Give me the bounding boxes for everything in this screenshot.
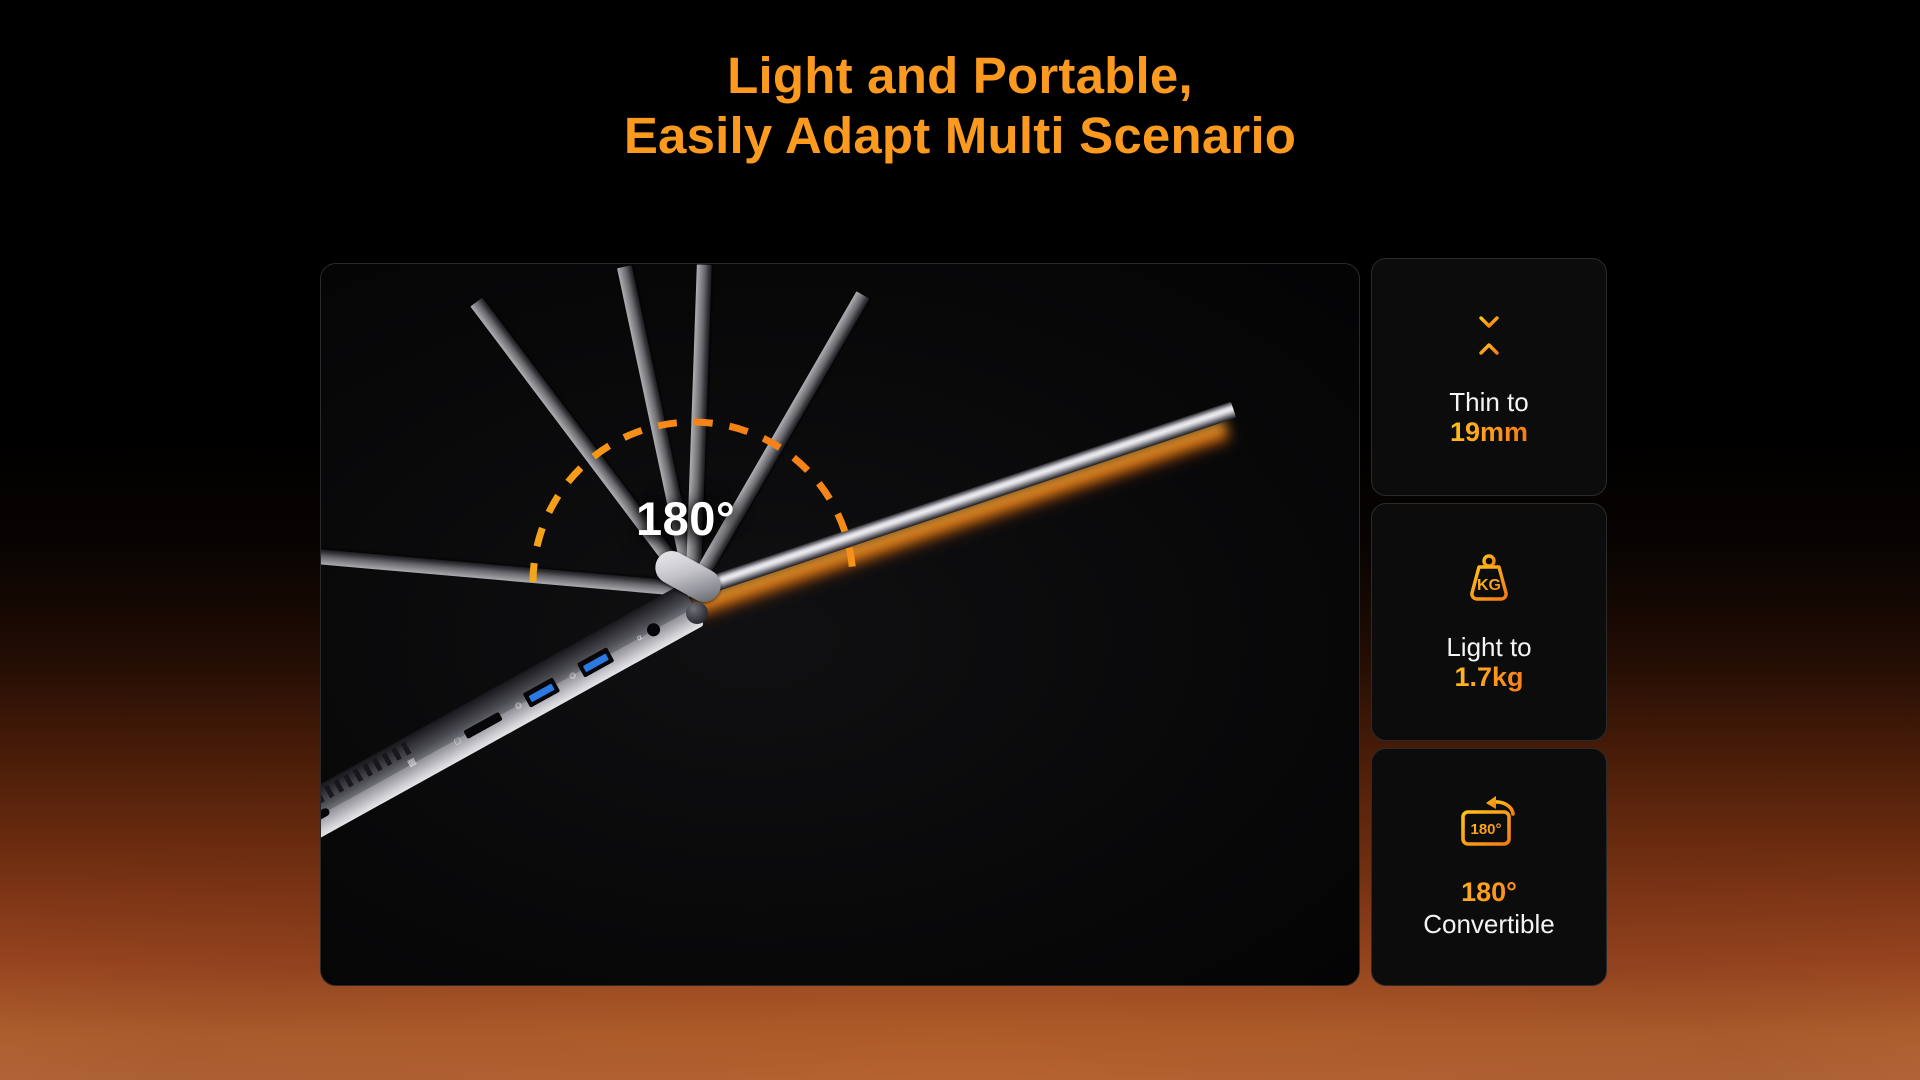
rotate-180-screen-icon: 180° bbox=[1450, 789, 1528, 861]
feature-card-thin[interactable]: Thin to 19mm bbox=[1371, 258, 1607, 496]
feature-card-convertible[interactable]: 180° 180° Convertible bbox=[1371, 748, 1607, 986]
headline-line-1: Light and Portable, bbox=[0, 46, 1920, 106]
thickness-arrows-icon bbox=[1454, 299, 1524, 371]
angle-callout-label: 180° bbox=[636, 491, 735, 546]
rotate-180-screen-icon-svg: 180° bbox=[1450, 790, 1528, 860]
feature-card-light[interactable]: KG Light to 1.7kg bbox=[1371, 503, 1607, 741]
ghost-beam-1 bbox=[320, 545, 694, 597]
rotate-arrow-head bbox=[1486, 796, 1496, 809]
promo-banner: Light and Portable, Easily Adapt Multi S… bbox=[0, 0, 1920, 1080]
weight-kg-icon-svg: KG bbox=[1454, 545, 1524, 615]
hinge-stud bbox=[686, 602, 708, 624]
feature-card-thin-value: 19mm bbox=[1449, 417, 1529, 449]
hero-image-panel: ⍺ ⏣ ⏣ ▢ ▦ 180° bbox=[320, 263, 1360, 986]
thickness-arrows-icon-svg bbox=[1454, 300, 1524, 370]
weight-kg-icon: KG bbox=[1454, 544, 1524, 616]
rotate-icon-180-text: 180° bbox=[1470, 821, 1501, 838]
feature-card-thin-text: Thin to 19mm bbox=[1449, 387, 1529, 450]
headline-line-2: Easily Adapt Multi Scenario bbox=[0, 106, 1920, 166]
feature-card-convertible-value: 180° bbox=[1423, 877, 1555, 909]
feature-card-thin-label: Thin to bbox=[1449, 387, 1529, 418]
ghost-lid-beams bbox=[321, 264, 1359, 985]
feature-card-light-value: 1.7kg bbox=[1446, 662, 1531, 694]
page-title: Light and Portable, Easily Adapt Multi S… bbox=[0, 46, 1920, 165]
feature-card-list: Thin to 19mm KG bbox=[1371, 258, 1607, 986]
feature-card-convertible-label: Convertible bbox=[1423, 909, 1555, 940]
weight-icon-kg-text: KG bbox=[1477, 577, 1501, 594]
feature-card-convertible-text: 180° Convertible bbox=[1423, 877, 1555, 940]
feature-card-light-text: Light to 1.7kg bbox=[1446, 632, 1531, 695]
feature-card-light-label: Light to bbox=[1446, 632, 1531, 663]
